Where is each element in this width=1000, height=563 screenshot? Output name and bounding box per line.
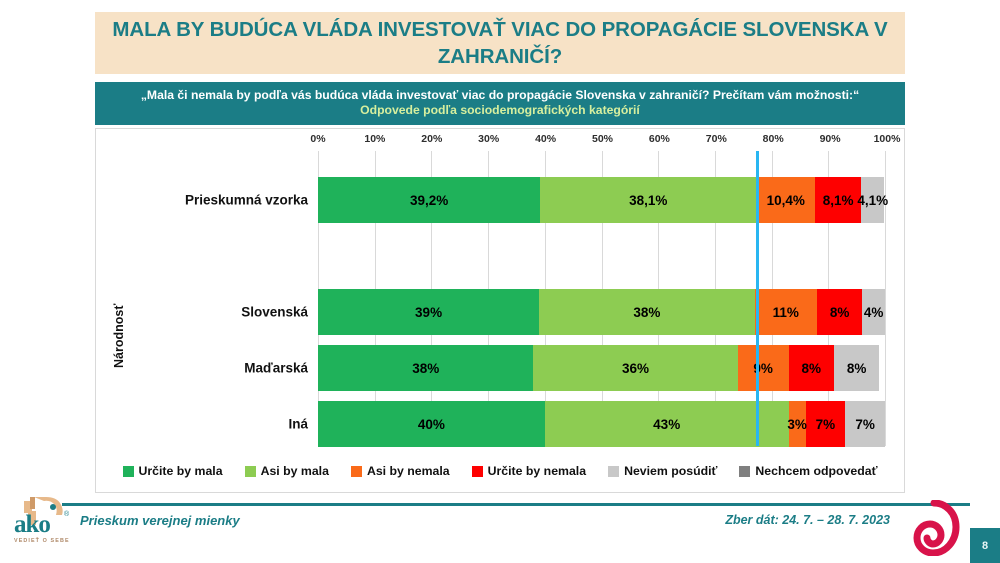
legend-label: Neviem posúdiť [624, 464, 717, 478]
bar-segment-label: 39% [415, 305, 442, 320]
bar-segment[interactable]: 36% [533, 345, 737, 391]
bar-segment-label: 38% [633, 305, 660, 320]
x-axis-tick: 60% [649, 133, 670, 145]
ako-tagline: VEDIEŤ O SEBE [14, 538, 70, 544]
bar-segment[interactable]: 7% [845, 401, 885, 447]
bar-segment[interactable]: 4% [862, 289, 885, 335]
bar-segment-label: 7% [855, 417, 875, 432]
category-label: Prieskumná vzorka [185, 193, 308, 208]
bar-segment-label: 4,1% [857, 193, 888, 208]
x-axis-tick: 50% [592, 133, 613, 145]
page-number-badge: 8 [970, 528, 1000, 563]
x-axis-tick: 90% [820, 133, 841, 145]
legend-label: Asi by mala [261, 464, 329, 478]
ako-wordmark: ako [14, 511, 50, 539]
bar-row[interactable]: 39%38%11%8%4% [318, 289, 885, 335]
bar-segment-label: 10,4% [767, 193, 805, 208]
footer-survey-label: Prieskum verejnej mienky [80, 513, 240, 528]
bar-segment-label: 8% [802, 361, 822, 376]
chart-x-axis: 0%10%20%30%40%50%60%70%80%90%100% [96, 133, 904, 149]
chart-legend: Určite by malaAsi by malaAsi by nemalaUr… [108, 458, 892, 484]
chart-panel: 0%10%20%30%40%50%60%70%80%90%100% Národn… [95, 128, 905, 493]
bar-segment-label: 36% [622, 361, 649, 376]
bar-segment[interactable]: 11% [755, 289, 817, 335]
legend-swatch [123, 466, 134, 477]
slide-root: MALA BY BUDÚCA VLÁDA INVESTOVAŤ VIAC DO … [0, 0, 1000, 563]
bar-segment[interactable]: 38% [318, 345, 533, 391]
bar-segment-label: 11% [773, 305, 799, 320]
slide-subtitle-band: „Mala či nemala by podľa vás budúca vlád… [95, 82, 905, 125]
bar-segment-label: 43% [653, 417, 680, 432]
subtitle-note: Odpovede podľa sociodemografických kateg… [360, 103, 640, 119]
footer-collection-dates: Zber dát: 24. 7. – 28. 7. 2023 [725, 513, 890, 527]
legend-swatch [608, 466, 619, 477]
x-axis-tick: 0% [310, 133, 325, 145]
chart-category-labels: Národnosť Prieskumná vzorkaSlovenskáMaďa… [96, 151, 318, 446]
legend-item[interactable]: Nechcem odpovedať [739, 464, 877, 478]
bar-segment[interactable]: 38% [539, 289, 754, 335]
bar-segment[interactable]: 8% [817, 289, 862, 335]
bar-segment[interactable]: 4,1% [861, 177, 884, 223]
bar-segment-label: 38,1% [629, 193, 667, 208]
legend-swatch [472, 466, 483, 477]
x-axis-tick: 80% [763, 133, 784, 145]
legend-item[interactable]: Určite by nemala [472, 464, 586, 478]
x-axis-tick: 30% [478, 133, 499, 145]
bar-segment[interactable]: 10,4% [756, 177, 815, 223]
bar-segment-label: 8,1% [823, 193, 854, 208]
x-axis-tick: 70% [706, 133, 727, 145]
page-title: MALA BY BUDÚCA VLÁDA INVESTOVAŤ VIAC DO … [109, 16, 891, 70]
bar-segment-label: 38% [412, 361, 439, 376]
category-label: Slovenská [241, 305, 308, 320]
bar-segment-label: 39,2% [410, 193, 448, 208]
subtitle-question: „Mala či nemala by podľa vás budúca vlád… [141, 88, 859, 103]
category-label: Maďarská [244, 361, 308, 376]
bar-segment[interactable]: 8,1% [815, 177, 861, 223]
bar-segment[interactable]: 39,2% [318, 177, 540, 223]
bar-segment[interactable]: 43% [545, 401, 789, 447]
bar-segment[interactable]: 40% [318, 401, 545, 447]
axis-label-narodnost: Národnosť [112, 210, 126, 368]
bar-segment-label: 40% [418, 417, 445, 432]
bar-segment-label: 7% [816, 417, 836, 432]
legend-item[interactable]: Asi by nemala [351, 464, 450, 478]
legend-item[interactable]: Neviem posúdiť [608, 464, 717, 478]
category-label: Iná [288, 417, 308, 432]
bar-segment-label: 8% [847, 361, 867, 376]
bar-segment[interactable]: 8% [834, 345, 879, 391]
bar-segment-label: 4% [864, 305, 884, 320]
spiral-logo-icon [908, 500, 960, 556]
legend-label: Určite by mala [139, 464, 223, 478]
reference-line [756, 151, 759, 446]
x-axis-tick: 20% [421, 133, 442, 145]
bar-segment[interactable]: 38,1% [540, 177, 756, 223]
bar-segment-label: 3% [787, 417, 807, 432]
legend-swatch [245, 466, 256, 477]
bar-segment[interactable]: 3% [789, 401, 806, 447]
bar-segment[interactable]: 7% [806, 401, 846, 447]
legend-label: Určite by nemala [488, 464, 586, 478]
legend-item[interactable]: Asi by mala [245, 464, 329, 478]
x-axis-tick: 100% [874, 133, 901, 145]
x-axis-tick: 10% [364, 133, 385, 145]
ako-logo: ako ® VEDIEŤ O SEBE [6, 495, 80, 557]
x-axis-tick: 40% [535, 133, 556, 145]
footer-divider [62, 503, 970, 506]
legend-swatch [351, 466, 362, 477]
legend-item[interactable]: Určite by mala [123, 464, 223, 478]
bar-row[interactable]: 40%43%3%7%7% [318, 401, 885, 447]
ako-registered-mark: ® [64, 511, 69, 518]
bar-segment-label: 8% [830, 305, 850, 320]
legend-label: Nechcem odpovedať [755, 464, 877, 478]
legend-label: Asi by nemala [367, 464, 450, 478]
bar-row[interactable]: 39,2%38,1%10,4%8,1%4,1% [318, 177, 885, 223]
legend-swatch [739, 466, 750, 477]
bar-segment[interactable]: 8% [789, 345, 834, 391]
page-number: 8 [982, 540, 988, 552]
bar-row[interactable]: 38%36%9%8%8% [318, 345, 885, 391]
bar-segment[interactable]: 9% [738, 345, 789, 391]
slide-title-band: MALA BY BUDÚCA VLÁDA INVESTOVAŤ VIAC DO … [95, 12, 905, 74]
chart-plot-area: 39,2%38,1%10,4%8,1%4,1%39%38%11%8%4%38%3… [318, 151, 885, 446]
bar-segment[interactable]: 39% [318, 289, 539, 335]
